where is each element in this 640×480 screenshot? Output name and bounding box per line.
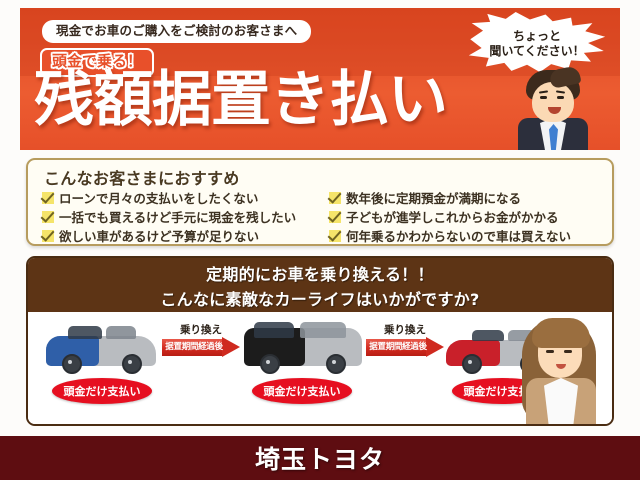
list-item-label: 一括でも買えるけど手元に現金を残したい [59, 207, 296, 226]
recommend-box: こんなお客さまにおすすめ ローンで月々の支払いをしたくない 一括でも買えるけど手… [26, 158, 614, 246]
arrow-right-icon: 据置期間経過後 [162, 339, 240, 356]
list-item-label: 子どもが進学しこれからお金がかかる [346, 207, 559, 226]
dealer-logo: 埼玉トヨタ [255, 440, 385, 476]
panel-heading-line-2: こんなに素敵なカーライフはいかがですか? [160, 286, 479, 310]
recommend-columns: ローンで月々の支払いをしたくない 一括でも買えるけど手元に現金を残したい 欲しい… [42, 188, 602, 245]
pill-downpayment-2: 頭金だけ支払い [252, 378, 352, 404]
bubble-line-1: ちょっと [513, 29, 561, 44]
lifestyle-panel-heading: 定期的にお車を乗り換える！！ こんなに素敵なカーライフはいかがですか? [28, 258, 612, 312]
transition-1-label: 乗り換え [162, 322, 240, 337]
car-hatchback-icon [46, 324, 156, 376]
recommend-title: こんなお客さまにおすすめ [44, 165, 240, 189]
car-minivan-icon [244, 318, 362, 376]
list-item: ローンで月々の支払いをしたくない [42, 188, 315, 207]
transition-2-label: 乗り換え [366, 322, 444, 337]
arrow-right-icon: 据置期間経過後 [366, 339, 444, 356]
transition-1-arrow-text: 据置期間経過後 [164, 340, 224, 355]
car-replacement-flow: 頭金だけ支払い 乗り換え 据置期間経過後 頭金だけ支払い [28, 312, 612, 426]
transition-2-arrow-text: 据置期間経過後 [368, 340, 428, 355]
bubble-line-2: 聞いてください！ [489, 44, 584, 59]
list-item: 何年乗るかわからないので車は買えない [329, 226, 602, 245]
list-item-label: 欲しい車があるけど予算が足りない [59, 226, 259, 245]
check-icon [42, 230, 54, 242]
check-icon [42, 211, 54, 223]
check-icon [42, 192, 54, 204]
list-item-label: ローンで月々の支払いをしたくない [59, 188, 258, 207]
hero-ribbon-text: 現金でお車のご購入をご検討のお客さまへ [42, 20, 311, 43]
hero-banner: 現金でお車のご購入をご検討のお客さまへ 頭金で乗る！ 残額据置き払い ちょっと … [20, 8, 620, 150]
list-item-label: 数年後に定期預金が満期になる [346, 188, 521, 207]
check-icon [329, 192, 341, 204]
speech-bubble-text: ちょっと 聞いてください！ [466, 12, 608, 74]
check-icon [329, 211, 341, 223]
footer-bar: 埼玉トヨタ [0, 436, 640, 480]
page-title: 残額据置き払い [34, 70, 447, 130]
list-item: 子どもが進学しこれからお金がかかる [329, 207, 602, 226]
check-icon [329, 230, 341, 242]
recommend-column-right: 数年後に定期預金が満期になる 子どもが進学しこれからお金がかかる 何年乗るかわか… [329, 188, 602, 245]
recommend-column-left: ローンで月々の支払いをしたくない 一括でも買えるけど手元に現金を残したい 欲しい… [42, 188, 315, 245]
lifestyle-panel: 定期的にお車を乗り換える！！ こんなに素敵なカーライフはいかがですか? 頭金だけ… [26, 256, 614, 426]
pill-downpayment-1: 頭金だけ支払い [52, 378, 152, 404]
saleswoman-illustration-icon [512, 312, 608, 426]
list-item-label: 何年乗るかわからないので車は買えない [346, 226, 571, 245]
panel-heading-line-1: 定期的にお車を乗り換える！！ [206, 261, 434, 285]
speech-bubble: ちょっと 聞いてください！ [466, 12, 608, 74]
list-item: 欲しい車があるけど予算が足りない [42, 226, 315, 245]
transition-1: 乗り換え 据置期間経過後 [162, 322, 240, 356]
transition-2: 乗り換え 据置期間経過後 [366, 322, 444, 356]
salesman-illustration-icon [510, 70, 596, 150]
list-item: 一括でも買えるけど手元に現金を残したい [42, 207, 315, 226]
list-item: 数年後に定期預金が満期になる [329, 188, 602, 207]
advertisement-page: 現金でお車のご購入をご検討のお客さまへ 頭金で乗る！ 残額据置き払い ちょっと … [0, 0, 640, 480]
